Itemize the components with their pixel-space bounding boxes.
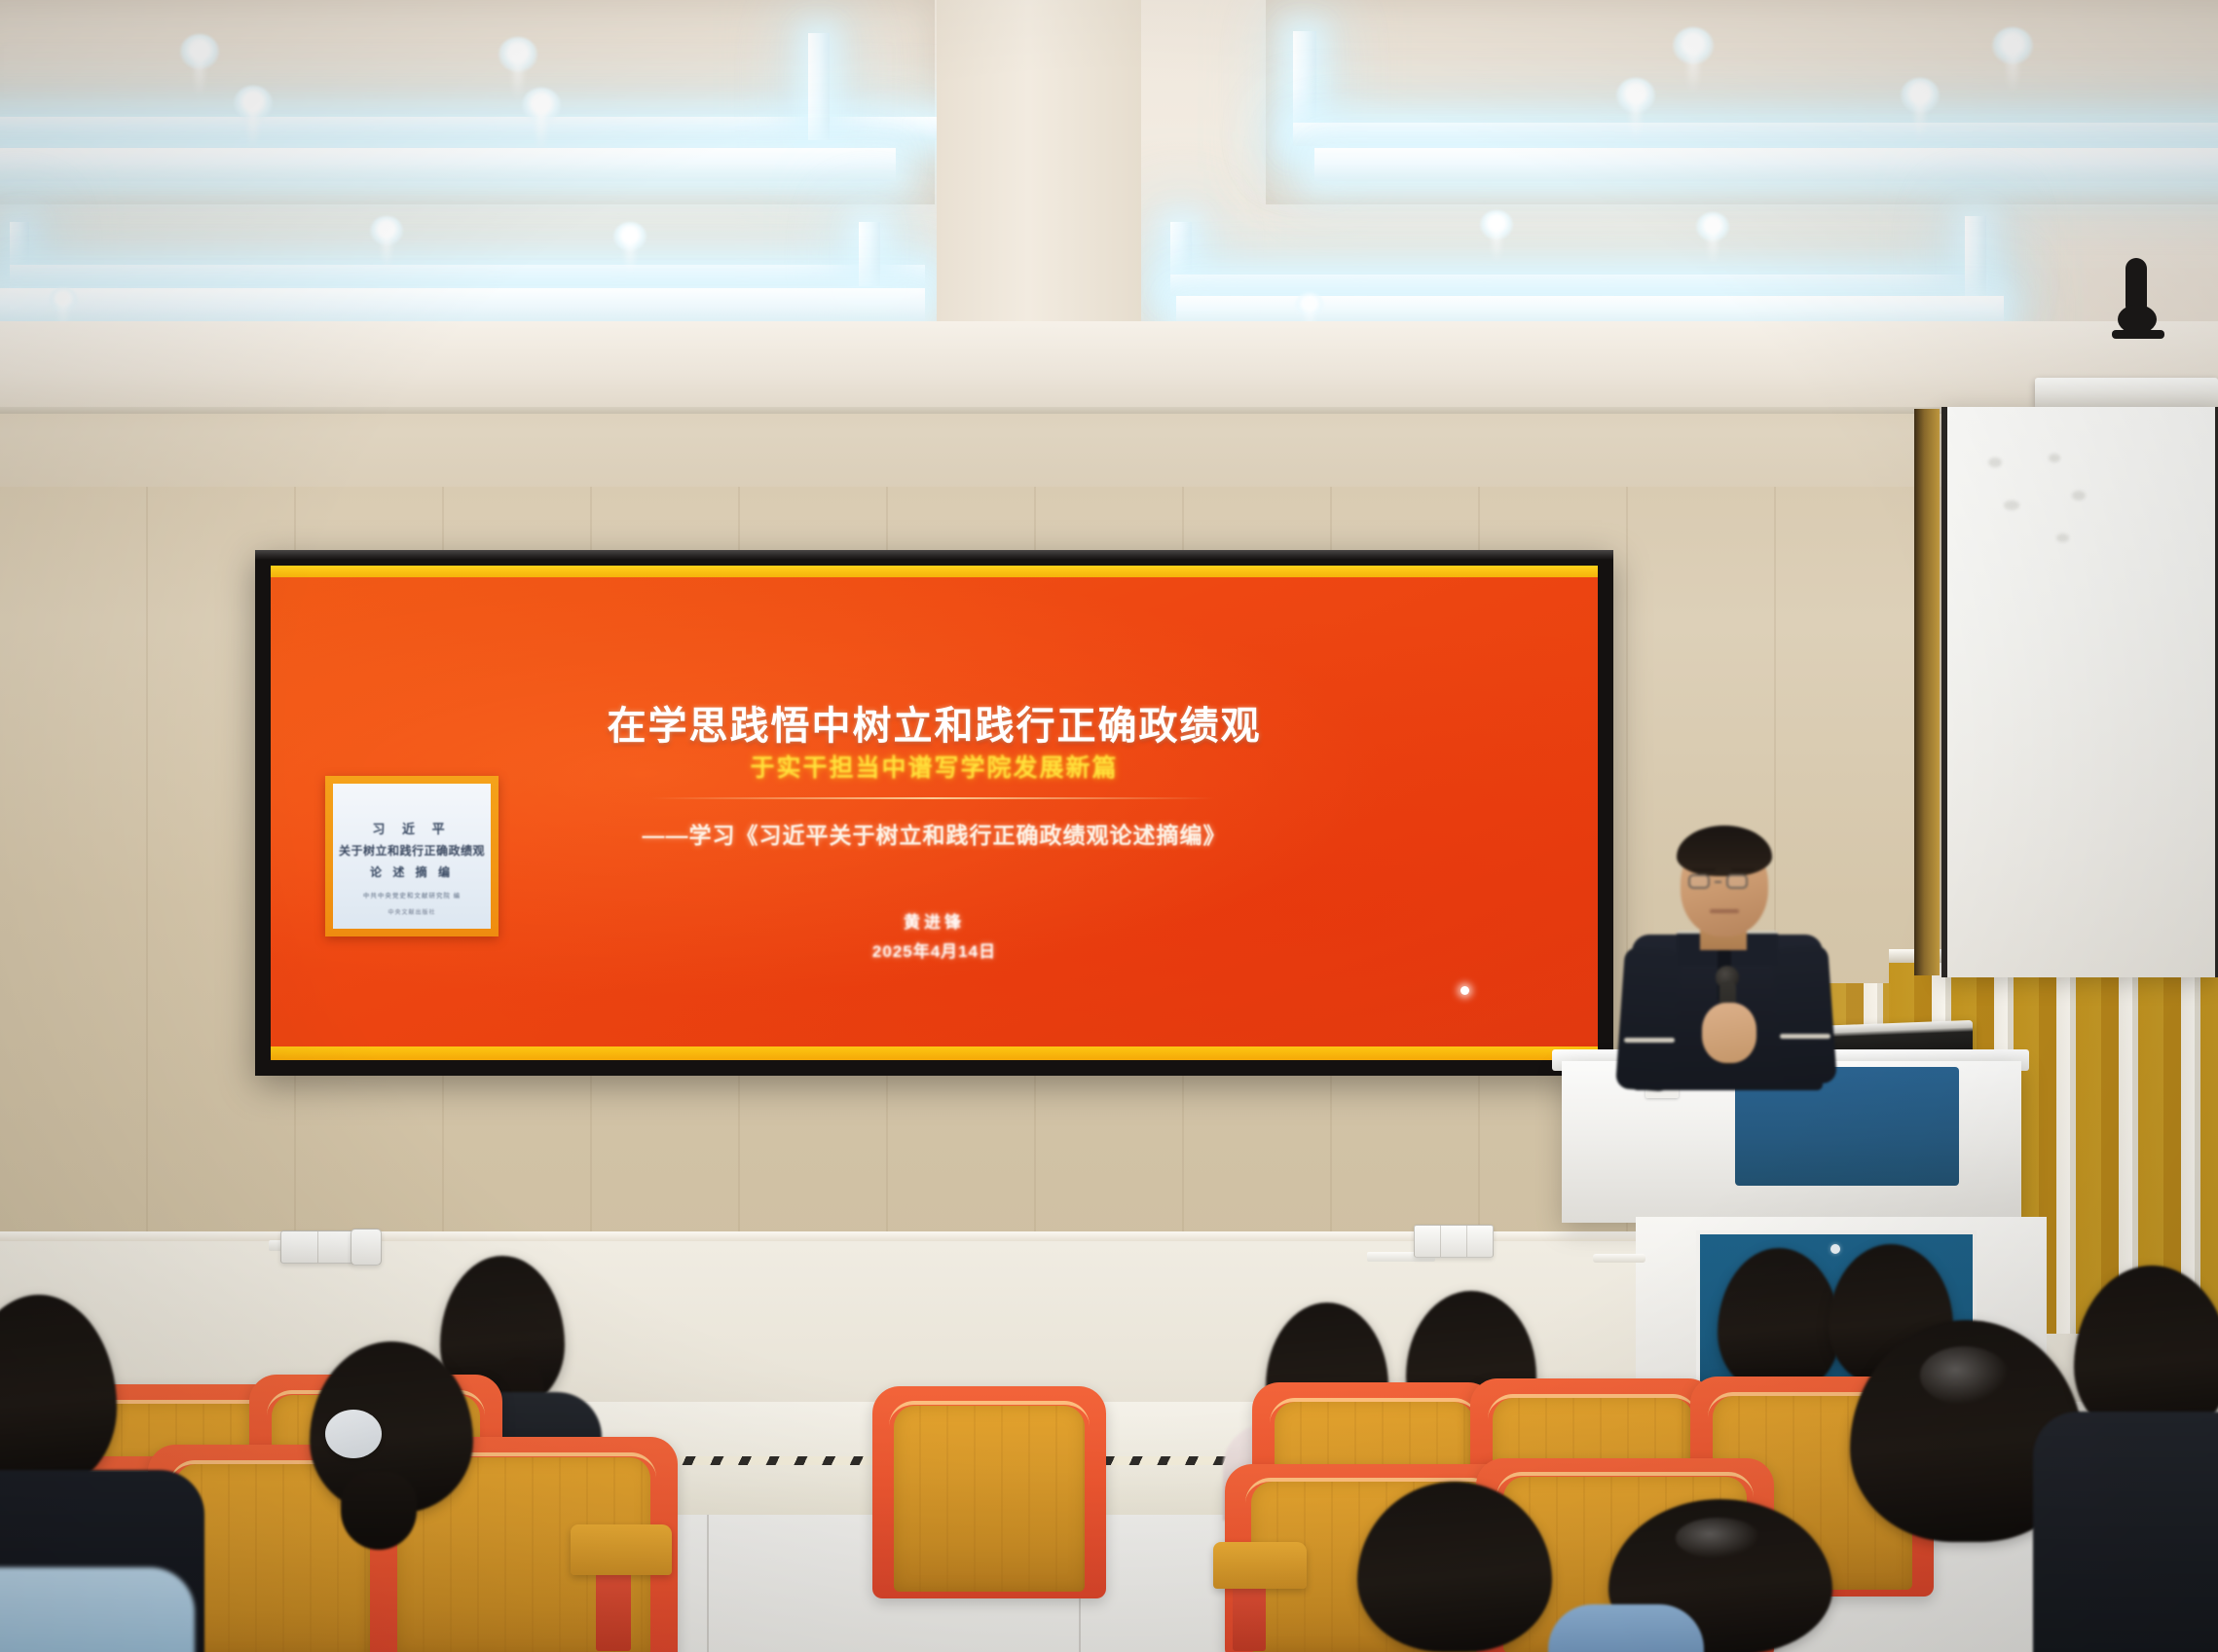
presenter-hand: [1702, 1003, 1756, 1063]
screen-blemish-3: [2049, 454, 2060, 462]
ceiling-camera-mount: [2108, 258, 2166, 363]
chair-piping-mid-4: [889, 1401, 1090, 1431]
downlight-12: [1696, 212, 1729, 241]
switch-toggle-1[interactable]: [281, 1231, 318, 1263]
downlight-11: [1480, 210, 1513, 239]
outlet-socket[interactable]: [351, 1230, 381, 1265]
presenter-sleeve-cuff-left: [1624, 1038, 1675, 1043]
ceiling-cove-bot-right-v2: [1965, 216, 1986, 296]
hair-scrunchie: [325, 1410, 382, 1458]
outlet-plate-left[interactable]: [351, 1229, 382, 1266]
downlight-13: [49, 287, 78, 312]
slide-citation: ——学习《习近平关于树立和践行正确政绩观论述摘编》: [271, 817, 1598, 850]
presenter-arm-right: [1771, 944, 1837, 1086]
downlight-14: [1295, 292, 1324, 317]
screen-side-reveal: [1914, 409, 1940, 975]
downlight-3: [234, 86, 273, 121]
downlight-4: [522, 88, 561, 123]
presenter-brow-right: [1731, 868, 1755, 871]
presenter-hair: [1677, 826, 1772, 876]
chair-piping-front-5: [1497, 1472, 1753, 1500]
audience-shirt-front-1: [0, 1567, 195, 1652]
downlight-1: [180, 34, 219, 69]
ceiling-cove-top-left-v: [808, 33, 830, 140]
ceiling-soffit: [0, 321, 2218, 415]
slide-top-stripe: [271, 566, 1598, 577]
audience-shoulders-front-6: [2033, 1412, 2218, 1652]
switch-toggle-4[interactable]: [1441, 1226, 1467, 1257]
glasses-bridge: [1715, 881, 1721, 883]
slide-bottom-stripe: [271, 1046, 1598, 1060]
presenter-brow-left: [1692, 868, 1716, 871]
light-switch-plate-left[interactable]: [280, 1230, 354, 1264]
downlight-10: [613, 222, 647, 251]
screen-blemish-4: [2072, 491, 2086, 500]
ceiling-cove-bot-left-h2: [0, 288, 925, 321]
glasses-icon: [1688, 874, 1748, 889]
chair-piping-mid-2: [1488, 1394, 1699, 1425]
book-compiler: 中共中央党史和文献研究院 编: [363, 890, 461, 899]
slide-title: 在学思践悟中树立和践行正确政绩观: [271, 694, 1598, 751]
downlight-5: [1673, 27, 1714, 64]
ceiling-cove-bot-left-h: [10, 265, 925, 286]
downlight-2: [499, 37, 537, 72]
armrest-front-2[interactable]: [1213, 1542, 1307, 1589]
downlight-9: [370, 216, 403, 245]
led-display[interactable]: 习 近 平 关于树立和践行正确政绩观 论 述 摘 编 中共中央党史和文献研究院 …: [255, 550, 1613, 1076]
led-display-screen[interactable]: 习 近 平 关于树立和践行正确政绩观 论 述 摘 编 中共中央党史和文献研究院 …: [271, 566, 1598, 1060]
glasses-lens-left: [1688, 874, 1710, 889]
ceiling-cove-top-left-h: [0, 117, 944, 140]
presenter-person: [1616, 818, 1869, 1081]
ceiling-cove-top-left-h2: [0, 148, 896, 181]
slide-presenter-name: 黄进锋: [271, 908, 1598, 933]
audience-ponytail-2: [341, 1472, 417, 1550]
screen-blemish-5: [2056, 533, 2069, 542]
slide-divider-rule: [650, 797, 1215, 799]
projector-housing: [2035, 378, 2218, 409]
floor-seam-1: [707, 1515, 709, 1652]
projection-screen[interactable]: [1941, 407, 2218, 977]
switch-toggle-2[interactable]: [318, 1231, 354, 1263]
lecture-hall-photo: 习 近 平 关于树立和践行正确政绩观 论 述 摘 编 中共中央党史和文献研究院 …: [0, 0, 2218, 1652]
switch-toggle-5[interactable]: [1467, 1226, 1493, 1257]
soffit-shadow-line: [0, 407, 2218, 414]
podium-screen-indicator: [1830, 1244, 1840, 1254]
glasses-lens-right: [1726, 874, 1748, 889]
ceiling-cove-top-right-h2: [1314, 148, 2218, 181]
presenter-arm-left: [1615, 946, 1682, 1092]
screen-blemish-2: [2004, 500, 2019, 510]
slide-date: 2025年4月14日: [271, 937, 1598, 962]
downlight-7: [1616, 78, 1655, 113]
ceiling-cove-bot-left-v2: [859, 222, 880, 286]
armrest-front-1[interactable]: [571, 1524, 672, 1575]
chair-piping-mid-1: [1270, 1398, 1479, 1428]
chair-mid-4[interactable]: [872, 1386, 1106, 1598]
ceiling-center-rib: [937, 0, 1141, 321]
chair-cushion-mid-4: [894, 1406, 1086, 1593]
downlight-6: [1992, 27, 2033, 64]
ceiling: [0, 0, 2218, 336]
ceiling-cove-top-right-h: [1293, 123, 2218, 146]
slide-subtitle: 于实干担当中谱写学院发展新篇: [271, 749, 1598, 784]
audience-shirt-front-4: [1548, 1604, 1704, 1652]
podium-side-trim: [1593, 1254, 1645, 1263]
slide-cursor-dot: [1460, 986, 1469, 995]
downlight-8: [1901, 78, 1940, 113]
book-subtitle-line: 论 述 摘 编: [370, 863, 454, 880]
presenter-mouth: [1710, 909, 1739, 913]
camera-cable: [2112, 330, 2164, 339]
presenter-sleeve-cuff-right: [1780, 1034, 1830, 1039]
ceiling-cove-bot-right-h: [1170, 275, 1988, 296]
screen-blemish-1: [1988, 458, 2002, 467]
switch-toggle-3[interactable]: [1415, 1226, 1441, 1257]
light-switch-plate-right[interactable]: [1414, 1225, 1494, 1258]
